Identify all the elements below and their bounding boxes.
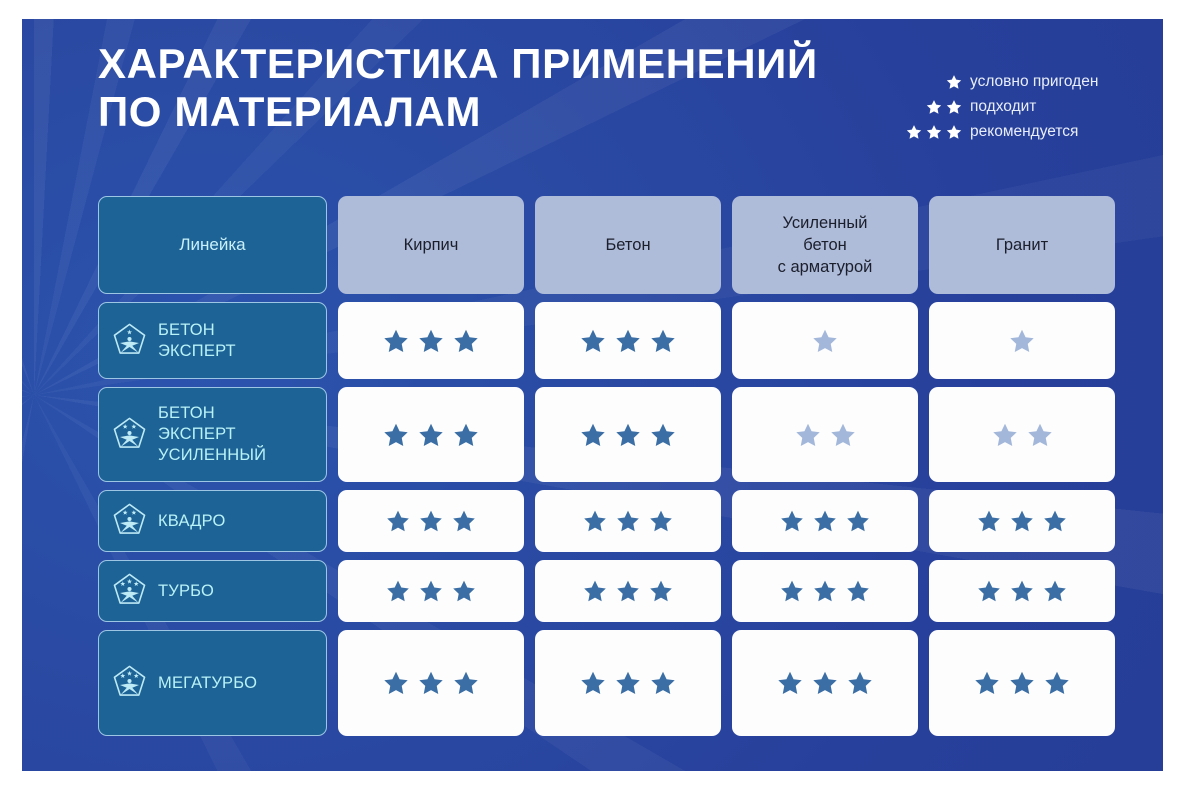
rating-star-icon-strong <box>1043 509 1067 533</box>
rating-star-icon-weak <box>795 422 821 448</box>
rating-star-icon-strong <box>383 670 409 696</box>
table-body: БЕТОН ЭКСПЕРТБЕТОН ЭКСПЕРТ УСИЛЕННЫЙКВАД… <box>98 302 1123 736</box>
product-line-cell[interactable]: БЕТОН ЭКСПЕРТ <box>98 302 327 379</box>
logo-star-icon-2 <box>131 510 136 515</box>
table-row: БЕТОН ЭКСПЕРТ <box>98 302 1123 379</box>
rating-star-icon-strong <box>386 579 410 603</box>
logo-star-icon-1 <box>123 424 128 429</box>
page-title-line-2: ПО МАТЕРИАЛАМ <box>98 88 838 136</box>
rating-star-icon-strong <box>383 422 409 448</box>
rating-star-icon-strong <box>616 509 640 533</box>
rating-cell-concrete <box>535 387 721 482</box>
legend-star-icon <box>946 124 962 140</box>
rating-star-icon-strong <box>780 509 804 533</box>
logo-star-icon-1 <box>123 510 128 515</box>
page-title: ХАРАКТЕРИСТИКА ПРИМЕНЕНИЙ ПО МАТЕРИАЛАМ <box>98 40 838 136</box>
legend-star-icon <box>906 124 922 140</box>
legend-stars <box>904 124 970 140</box>
legend-stars <box>904 99 970 115</box>
legend-star-icon <box>926 124 942 140</box>
legend: условно пригоденподходитрекомендуется <box>904 69 1154 144</box>
product-line-name: МЕГАТУРБО <box>158 673 257 694</box>
rating-star-icon-strong <box>780 579 804 603</box>
brand-pentagon-logo-icon <box>112 502 147 540</box>
rating-star-icon-strong <box>1044 670 1070 696</box>
table-header-material-rebar: Усиленный бетон с арматурой <box>732 196 918 294</box>
rating-star-icon-strong <box>777 670 803 696</box>
legend-stars <box>904 74 970 90</box>
table-row: КВАДРО <box>98 490 1123 552</box>
materials-compatibility-table: ЛинейкаКирпичБетонУсиленный бетон с арма… <box>98 196 1123 736</box>
table-row: БЕТОН ЭКСПЕРТ УСИЛЕННЫЙ <box>98 387 1123 482</box>
rating-cell-brick <box>338 302 524 379</box>
rating-star-icon-strong <box>813 509 837 533</box>
brand-pentagon-logo-icon <box>112 664 147 702</box>
table-header-material-granite: Гранит <box>929 196 1115 294</box>
rating-cell-rebar <box>732 490 918 552</box>
logo-star-icon-1 <box>120 673 125 678</box>
table-header-label: Бетон <box>605 234 650 256</box>
rating-star-icon-strong <box>453 422 479 448</box>
rating-star-icon-strong <box>650 422 676 448</box>
page-title-line-1: ХАРАКТЕРИСТИКА ПРИМЕНЕНИЙ <box>98 40 838 88</box>
rating-star-icon-strong <box>616 579 640 603</box>
legend-star-icon <box>946 74 962 90</box>
rating-star-icon-strong <box>386 509 410 533</box>
rating-star-icon-strong <box>580 422 606 448</box>
rating-cell-concrete <box>535 560 721 622</box>
logo-star-icon-3 <box>134 673 139 678</box>
rating-star-icon-strong <box>452 509 476 533</box>
rating-cell-granite <box>929 560 1115 622</box>
logo-star-icon-1 <box>120 581 125 586</box>
rating-star-icon-strong <box>580 328 606 354</box>
rating-cell-brick <box>338 560 524 622</box>
rating-star-icon-weak <box>830 422 856 448</box>
product-line-name: БЕТОН ЭКСПЕРТ <box>158 320 236 362</box>
rating-star-icon-strong <box>813 579 837 603</box>
rating-star-icon-strong <box>383 328 409 354</box>
table-header-row: ЛинейкаКирпичБетонУсиленный бетон с арма… <box>98 196 1123 294</box>
rating-star-icon-strong <box>846 509 870 533</box>
poster-frame: ХАРАКТЕРИСТИКА ПРИМЕНЕНИЙ ПО МАТЕРИАЛАМ … <box>0 0 1200 800</box>
table-header-label: Усиленный бетон с арматурой <box>778 212 873 278</box>
rating-star-icon-strong <box>615 422 641 448</box>
rating-cell-rebar <box>732 560 918 622</box>
rating-star-icon-strong <box>453 670 479 696</box>
legend-item-label: подходит <box>970 98 1036 116</box>
rating-star-icon-strong <box>812 670 838 696</box>
rating-star-icon-weak <box>992 422 1018 448</box>
table-row: МЕГАТУРБО <box>98 630 1123 736</box>
legend-item-2: подходит <box>904 94 1154 119</box>
legend-item-1: условно пригоден <box>904 69 1154 94</box>
rating-cell-rebar <box>732 387 918 482</box>
rating-cell-brick <box>338 387 524 482</box>
rating-star-icon-strong <box>974 670 1000 696</box>
rating-star-icon-weak <box>1009 328 1035 354</box>
poster-canvas: ХАРАКТЕРИСТИКА ПРИМЕНЕНИЙ ПО МАТЕРИАЛАМ … <box>22 19 1163 771</box>
rating-star-icon-weak <box>1027 422 1053 448</box>
rating-star-icon-strong <box>452 579 476 603</box>
rating-star-icon-strong <box>615 328 641 354</box>
rating-star-icon-strong <box>649 579 673 603</box>
rating-star-icon-strong <box>649 509 673 533</box>
brand-pentagon-logo-icon <box>112 572 147 610</box>
rating-star-icon-strong <box>418 328 444 354</box>
brand-pentagon-logo-icon <box>112 416 147 454</box>
rating-star-icon-strong <box>583 579 607 603</box>
product-line-name: ТУРБО <box>158 581 214 602</box>
poster-header: ХАРАКТЕРИСТИКА ПРИМЕНЕНИЙ ПО МАТЕРИАЛАМ … <box>22 19 1163 194</box>
rating-star-icon-strong <box>1009 670 1035 696</box>
rating-cell-granite <box>929 302 1115 379</box>
rating-star-icon-strong <box>453 328 479 354</box>
rating-cell-concrete <box>535 630 721 736</box>
table-header-label: Линейка <box>179 235 245 255</box>
rating-cell-granite <box>929 387 1115 482</box>
table-header-label: Гранит <box>996 234 1048 256</box>
logo-star-icon-2 <box>127 671 132 676</box>
table-header-material-concrete: Бетон <box>535 196 721 294</box>
legend-star-icon <box>926 99 942 115</box>
rating-star-icon-strong <box>419 579 443 603</box>
legend-item-label: рекомендуется <box>970 123 1078 141</box>
rating-star-icon-strong <box>580 670 606 696</box>
rating-cell-granite <box>929 490 1115 552</box>
logo-star-icon-1 <box>127 329 132 334</box>
rating-star-icon-strong <box>977 509 1001 533</box>
product-line-name: БЕТОН ЭКСПЕРТ УСИЛЕННЫЙ <box>158 403 266 466</box>
legend-star-icon <box>946 99 962 115</box>
rating-cell-brick <box>338 490 524 552</box>
rating-star-icon-strong <box>419 509 443 533</box>
product-line-cell[interactable]: БЕТОН ЭКСПЕРТ УСИЛЕННЫЙ <box>98 387 327 482</box>
legend-item-3: рекомендуется <box>904 119 1154 144</box>
logo-star-icon-2 <box>127 579 132 584</box>
product-line-cell[interactable]: МЕГАТУРБО <box>98 630 327 736</box>
table-row: ТУРБО <box>98 560 1123 622</box>
rating-star-icon-strong <box>1043 579 1067 603</box>
table-header-label: Кирпич <box>404 234 459 256</box>
rating-star-icon-strong <box>846 579 870 603</box>
brand-pentagon-logo-icon <box>112 322 147 360</box>
rating-cell-brick <box>338 630 524 736</box>
product-line-name: КВАДРО <box>158 511 225 532</box>
rating-star-icon-strong <box>977 579 1001 603</box>
rating-star-icon-strong <box>583 509 607 533</box>
product-line-cell[interactable]: ТУРБО <box>98 560 327 622</box>
rating-star-icon-weak <box>812 328 838 354</box>
legend-item-label: условно пригоден <box>970 73 1098 91</box>
rating-star-icon-strong <box>418 422 444 448</box>
rating-cell-rebar <box>732 302 918 379</box>
rating-star-icon-strong <box>418 670 444 696</box>
rating-star-icon-strong <box>615 670 641 696</box>
rating-cell-granite <box>929 630 1115 736</box>
rating-star-icon-strong <box>847 670 873 696</box>
rating-cell-rebar <box>732 630 918 736</box>
rating-cell-concrete <box>535 490 721 552</box>
logo-star-icon-2 <box>131 424 136 429</box>
product-line-cell[interactable]: КВАДРО <box>98 490 327 552</box>
rating-star-icon-strong <box>1010 579 1034 603</box>
table-header-material-brick: Кирпич <box>338 196 524 294</box>
table-header-line-column: Линейка <box>98 196 327 294</box>
rating-cell-concrete <box>535 302 721 379</box>
rating-star-icon-strong <box>650 328 676 354</box>
rating-star-icon-strong <box>650 670 676 696</box>
rating-star-icon-strong <box>1010 509 1034 533</box>
logo-star-icon-3 <box>134 581 139 586</box>
